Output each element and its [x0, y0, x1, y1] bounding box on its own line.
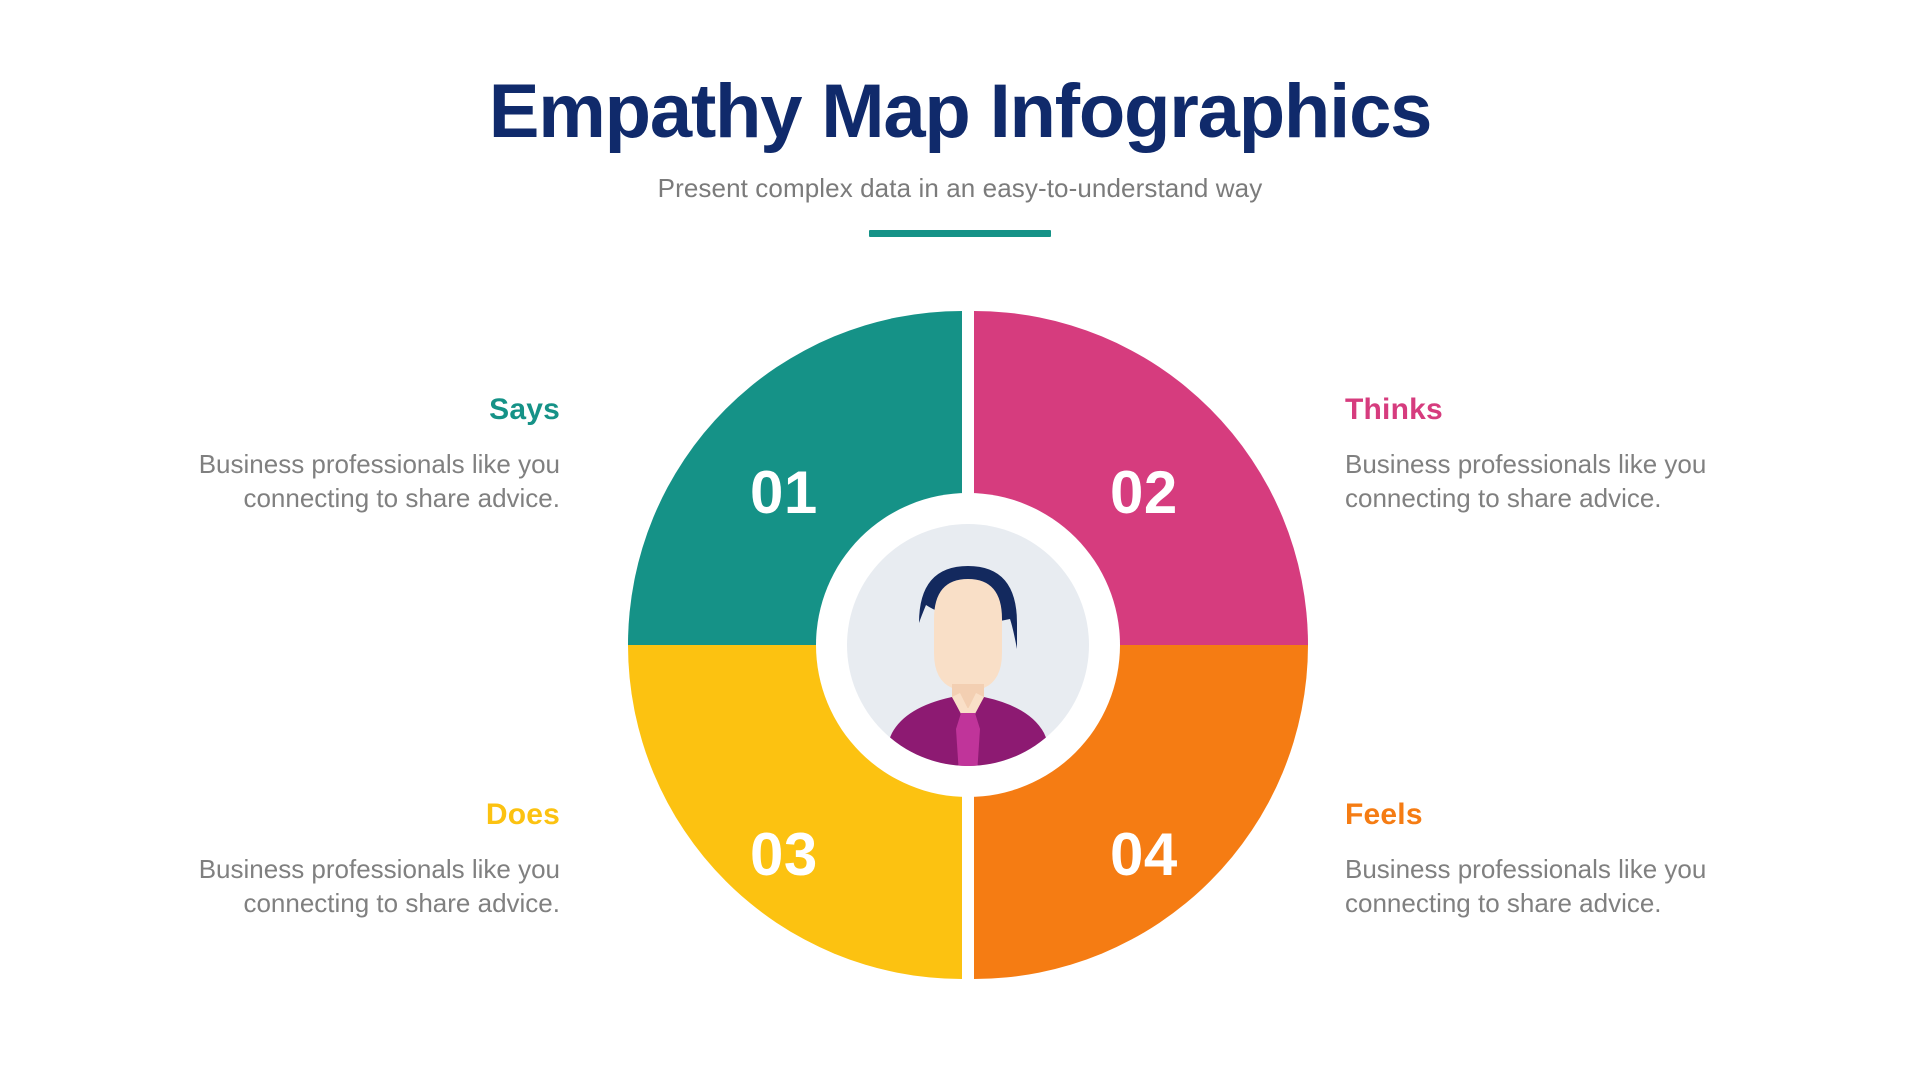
segment-block-says[interactable]: Says Business professionals like you con… [140, 395, 560, 516]
segment-number-02: 02 [1110, 463, 1178, 523]
empathy-wheel: 01 02 03 04 [628, 305, 1308, 985]
segment-description-thinks: Business professionals like you connecti… [1345, 447, 1765, 516]
segment-label-thinks: Thinks [1345, 395, 1765, 425]
segment-block-thinks[interactable]: Thinks Business professionals like you c… [1345, 395, 1765, 516]
segment-block-feels[interactable]: Feels Business professionals like you co… [1345, 800, 1765, 921]
header: Empathy Map Infographics Present complex… [0, 72, 1920, 237]
page-subtitle: Present complex data in an easy-to-under… [0, 173, 1920, 204]
segment-block-does[interactable]: Does Business professionals like you con… [140, 800, 560, 921]
page-title: Empathy Map Infographics [0, 72, 1920, 151]
segment-description-does: Business professionals like you connecti… [140, 852, 560, 921]
title-divider [869, 230, 1051, 237]
segment-number-04: 04 [1110, 825, 1178, 885]
wheel-svg [628, 305, 1308, 985]
segment-description-feels: Business professionals like you connecti… [1345, 852, 1765, 921]
segment-number-01: 01 [750, 463, 818, 523]
segment-label-says: Says [140, 395, 560, 425]
infographic-slide: Empathy Map Infographics Present complex… [0, 0, 1920, 1080]
segment-label-feels: Feels [1345, 800, 1765, 830]
segment-label-does: Does [140, 800, 560, 830]
segment-description-says: Business professionals like you connecti… [140, 447, 560, 516]
segment-number-03: 03 [750, 825, 818, 885]
